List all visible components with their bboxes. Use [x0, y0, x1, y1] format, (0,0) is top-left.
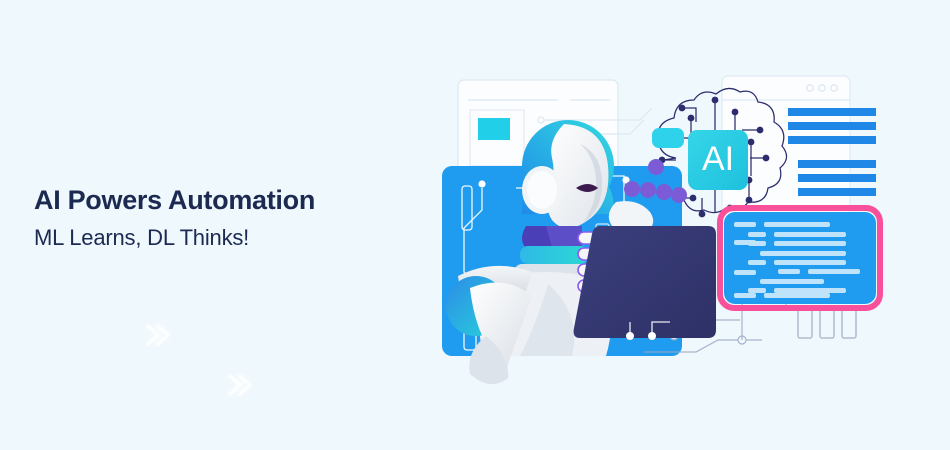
- code-editor-window: [720, 208, 880, 308]
- ai-chip: AI: [688, 130, 748, 190]
- tablet-device: [574, 226, 716, 338]
- hero-text-block: AI Powers Automation ML Learns, DL Think…: [34, 185, 414, 250]
- ai-chip-label: AI: [702, 140, 734, 178]
- page-title: AI Powers Automation: [34, 185, 414, 216]
- ai-automation-illustration: AI: [430, 48, 930, 398]
- double-chevron-right-icon: [132, 308, 186, 362]
- hero-banner: AI Powers Automation ML Learns, DL Think…: [0, 0, 950, 450]
- cyan-tag: [652, 128, 684, 148]
- page-subtitle: ML Learns, DL Thinks!: [34, 225, 414, 250]
- double-chevron-right-icon: [214, 358, 268, 412]
